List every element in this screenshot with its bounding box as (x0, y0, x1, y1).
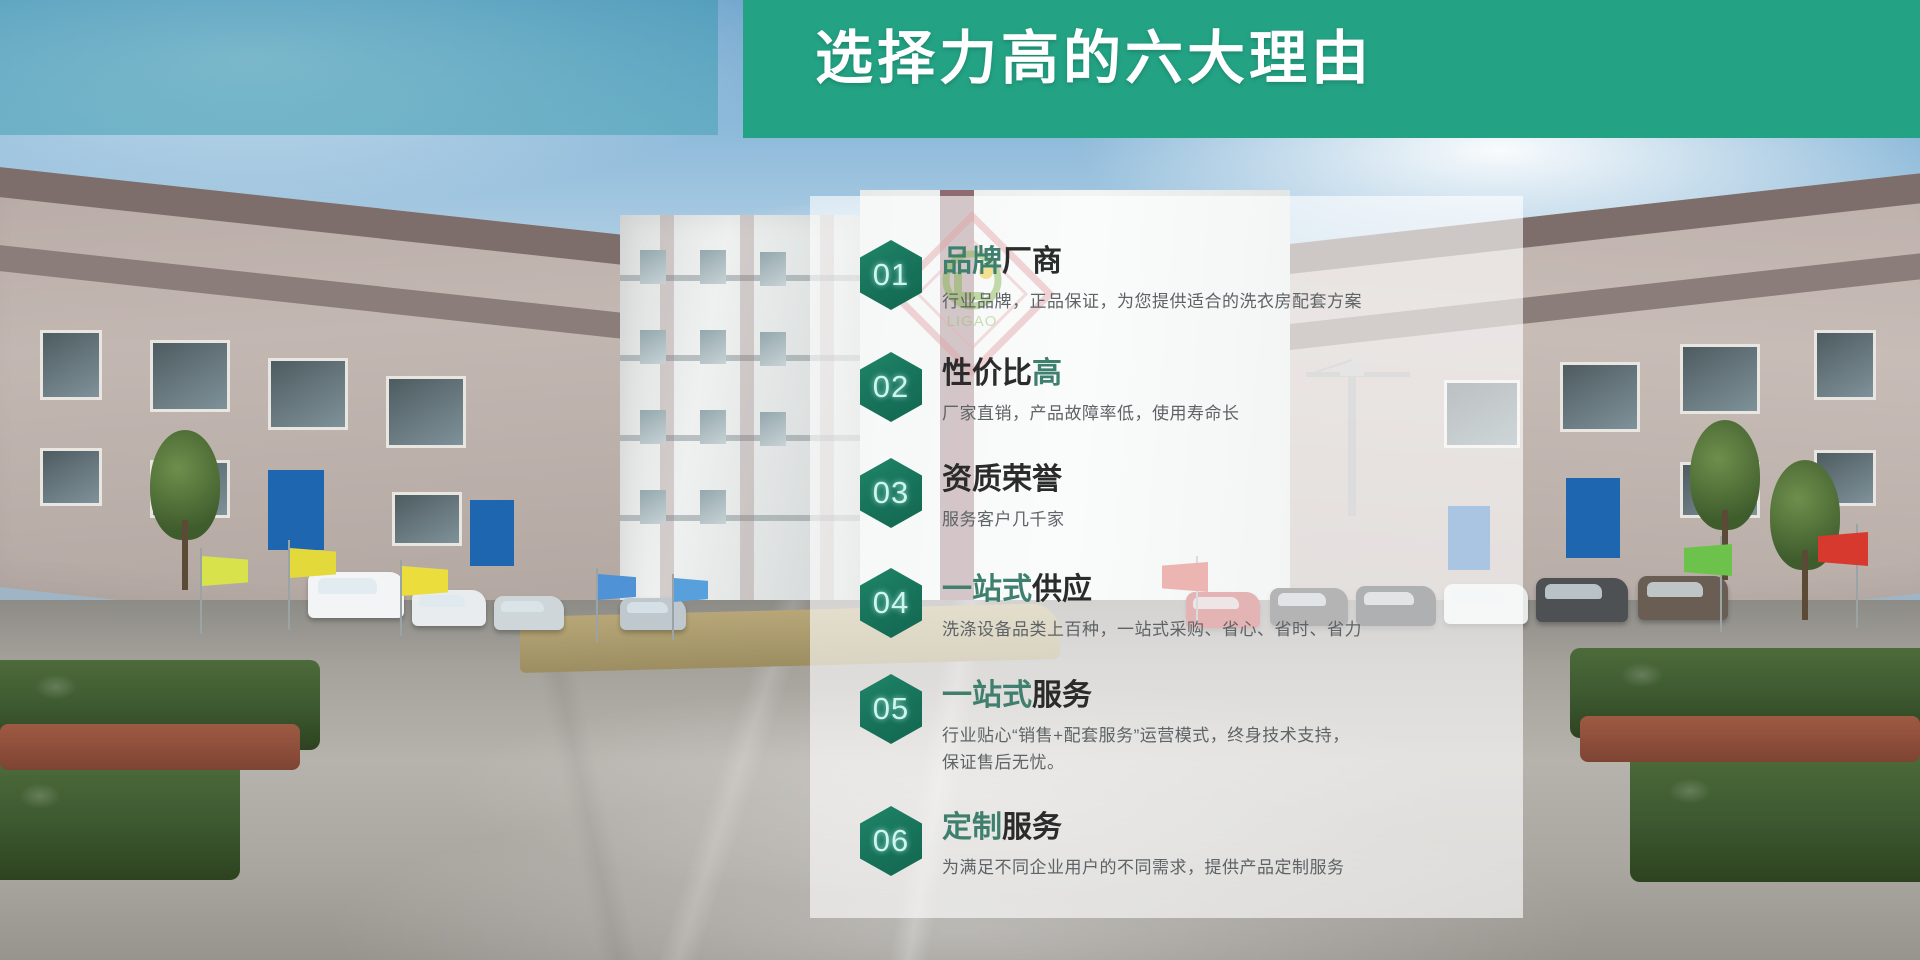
window (1560, 362, 1640, 432)
flag-green (1684, 544, 1732, 576)
hexagon-badge-icon: 06 (860, 806, 922, 876)
reason-description-line: 行业品牌，正品保证，为您提供适合的洗衣房配套方案 (942, 288, 1502, 315)
reason-title: 定制服务 (942, 808, 1502, 848)
hedge-row (0, 760, 240, 880)
flag-yellow (402, 566, 448, 596)
window (40, 448, 102, 506)
flag-blue (674, 578, 708, 602)
reason-title-dark: 性价比 (942, 357, 1032, 390)
window (40, 330, 102, 400)
entry-door (1566, 478, 1620, 558)
reasons-list: 01 品牌厂商 行业品牌，正品保证，为您提供适合的洗衣房配套方案 02 性价比高… (810, 196, 1523, 918)
reason-number: 04 (873, 585, 909, 621)
reason-title: 一站式供应 (942, 570, 1502, 610)
window (150, 340, 230, 412)
flag-blue (598, 574, 636, 600)
flag-yellow (202, 556, 248, 586)
window (640, 330, 666, 364)
hexagon-badge-icon: 03 (860, 458, 922, 528)
parked-van (308, 572, 404, 618)
reason-description: 洗涤设备品类上百种，一站式采购、省心、省时、省力 (942, 616, 1502, 643)
flag-yellow (290, 548, 336, 578)
reason-title: 资质荣誉 (942, 460, 1502, 500)
entry-door (470, 500, 514, 566)
reason-title-dark: 服务 (1032, 679, 1092, 712)
window (640, 250, 666, 284)
reason-title-dark: 供应 (1032, 573, 1092, 606)
reason-text-block: 资质荣誉 服务客户几千家 (942, 460, 1502, 533)
window (760, 332, 786, 366)
reason-badge-01: 01 (860, 240, 922, 310)
flag-pole (288, 540, 290, 630)
reason-title: 性价比高 (942, 354, 1502, 394)
reason-description-line: 保证售后无忧。 (942, 749, 1502, 776)
reason-title-accent: 一站式 (942, 679, 1032, 712)
page-title: 选择力高的六大理由 (815, 18, 1373, 100)
entry-door (268, 470, 324, 550)
reason-title-dark: 厂商 (1002, 245, 1062, 278)
reason-description: 厂家直销，产品故障率低，使用寿命长 (942, 400, 1502, 427)
hexagon-badge-icon: 04 (860, 568, 922, 638)
window (760, 252, 786, 286)
window (1680, 344, 1760, 414)
hexagon-badge-icon: 01 (860, 240, 922, 310)
reason-title-accent: 品牌 (942, 245, 1002, 278)
tree-trunk (1802, 550, 1808, 620)
reason-title-accent: 定制 (942, 811, 1002, 844)
window (392, 492, 462, 546)
reason-number: 02 (873, 369, 909, 405)
reason-description: 服务客户几千家 (942, 506, 1502, 533)
reason-badge-04: 04 (860, 568, 922, 638)
reason-number: 06 (873, 823, 909, 859)
reason-text-block: 品牌厂商 行业品牌，正品保证，为您提供适合的洗衣房配套方案 (942, 242, 1502, 315)
reason-title-accent: 一站式 (942, 573, 1032, 606)
header-left-accent-band (0, 0, 718, 135)
parked-car (412, 590, 486, 626)
hexagon-badge-icon: 02 (860, 352, 922, 422)
parked-suv (1536, 578, 1628, 622)
reason-number: 05 (873, 691, 909, 727)
hedge-row (1630, 752, 1920, 882)
hexagon-badge-icon: 05 (860, 674, 922, 744)
reason-number: 01 (873, 257, 909, 293)
reason-description-line: 行业贴心“销售+配套服务”运营模式，终身技术支持， (942, 722, 1502, 749)
reason-badge-03: 03 (860, 458, 922, 528)
page-header: 选择力高的六大理由 (0, 0, 1920, 140)
tree-trunk (182, 520, 188, 590)
reason-title-dark: 资质荣誉 (942, 463, 1062, 496)
reason-description: 行业品牌，正品保证，为您提供适合的洗衣房配套方案 (942, 288, 1502, 315)
reason-title: 一站式服务 (942, 676, 1502, 716)
reason-number: 03 (873, 475, 909, 511)
window (700, 250, 726, 284)
window (700, 330, 726, 364)
window (386, 376, 466, 448)
window (1814, 330, 1876, 400)
window (700, 410, 726, 444)
window (640, 410, 666, 444)
reason-description-line: 洗涤设备品类上百种，一站式采购、省心、省时、省力 (942, 616, 1502, 643)
window (700, 490, 726, 524)
reason-title-dark: 服务 (1002, 811, 1062, 844)
red-shrub-row (1580, 716, 1920, 762)
flag-red (1818, 532, 1868, 566)
reason-title: 品牌厂商 (942, 242, 1502, 282)
reason-title-accent: 高 (1032, 357, 1062, 390)
red-shrub-row (0, 724, 300, 770)
reason-text-block: 性价比高 厂家直销，产品故障率低，使用寿命长 (942, 354, 1502, 427)
window (640, 490, 666, 524)
reason-text-block: 一站式服务 行业贴心“销售+配套服务”运营模式，终身技术支持， 保证售后无忧。 (942, 676, 1502, 776)
reason-badge-02: 02 (860, 352, 922, 422)
parked-suv (1638, 576, 1728, 620)
building-column (740, 215, 754, 635)
window (268, 358, 348, 430)
window (760, 412, 786, 446)
reason-description: 为满足不同企业用户的不同需求，提供产品定制服务 (942, 854, 1502, 881)
reason-description-line: 为满足不同企业用户的不同需求，提供产品定制服务 (942, 854, 1502, 881)
reason-badge-05: 05 (860, 674, 922, 744)
reason-description: 行业贴心“销售+配套服务”运营模式，终身技术支持， 保证售后无忧。 (942, 722, 1502, 776)
flag-pole (672, 574, 674, 640)
reason-badge-06: 06 (860, 806, 922, 876)
flag-pole (400, 560, 402, 636)
reason-text-block: 一站式供应 洗涤设备品类上百种，一站式采购、省心、省时、省力 (942, 570, 1502, 643)
reason-description-line: 厂家直销，产品故障率低，使用寿命长 (942, 400, 1502, 427)
reason-description-line: 服务客户几千家 (942, 506, 1502, 533)
flag-pole (200, 548, 202, 634)
flag-pole (596, 568, 598, 642)
parked-car (494, 596, 564, 630)
parked-car (620, 598, 686, 630)
reasons-panel: LIGAO 01 品牌厂商 行业品牌，正品保证，为您提供适合的洗衣房配套方案 0… (810, 196, 1523, 918)
reason-text-block: 定制服务 为满足不同企业用户的不同需求，提供产品定制服务 (942, 808, 1502, 881)
